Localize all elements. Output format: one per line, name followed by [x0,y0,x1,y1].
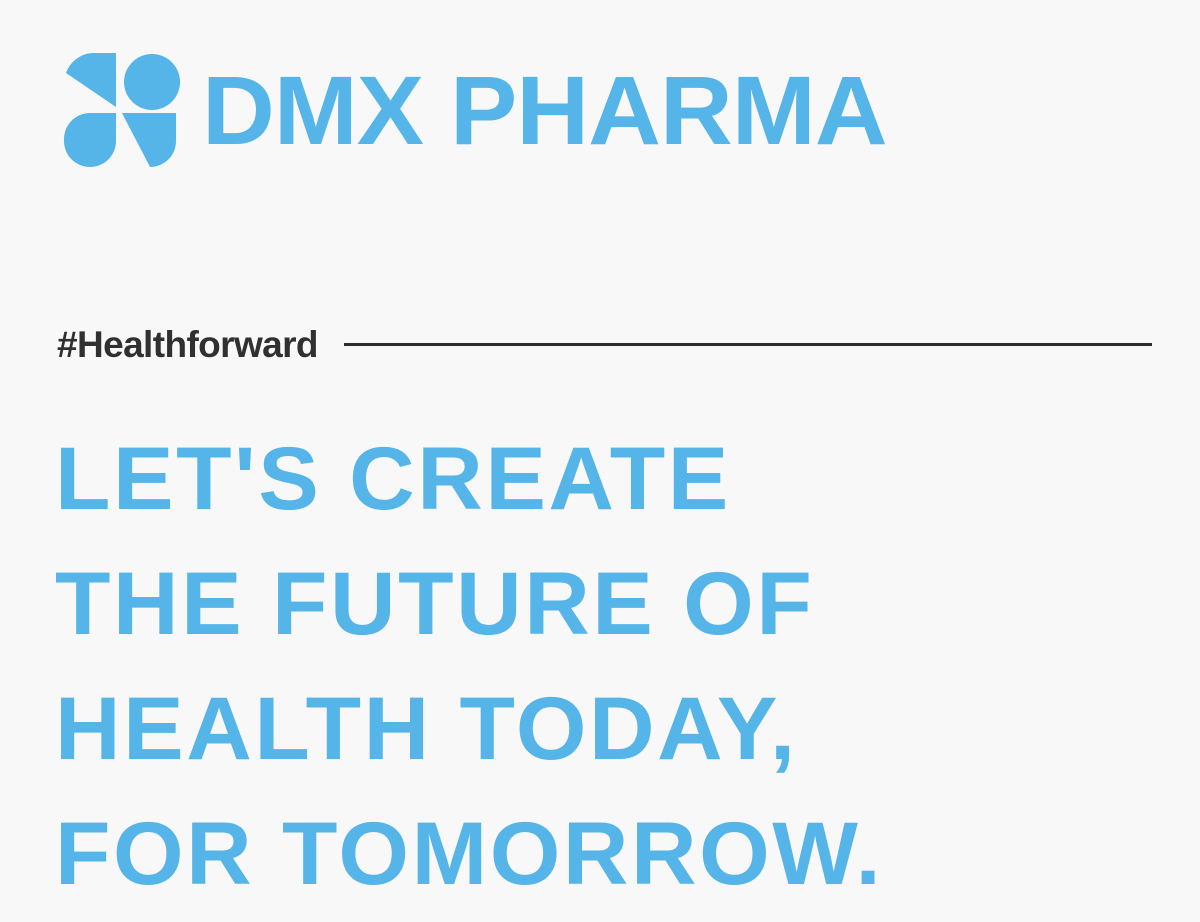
brand-lockup[interactable]: DMX PHARMA [60,48,860,172]
headline-line-1: LET'S CREATE [55,416,1197,541]
headline-block: LET'S CREATE THE FUTURE OF HEALTH TODAY,… [55,416,1175,916]
tagline-text: #Healthforward [57,326,318,363]
headline-line-2: THE FUTURE OF [55,541,1197,666]
tagline-row: #Healthforward [57,318,1152,370]
headline-line-3: HEALTH TODAY, [55,666,1197,791]
tagline-divider [344,343,1152,346]
headline-line-4: FOR TOMORROW. [55,791,1197,916]
brand-wordmark: DMX PHARMA [202,62,887,159]
hero-page: DMX PHARMA #Healthforward LET'S CREATE T… [0,0,1200,922]
pinwheel-logo-icon [60,49,180,171]
